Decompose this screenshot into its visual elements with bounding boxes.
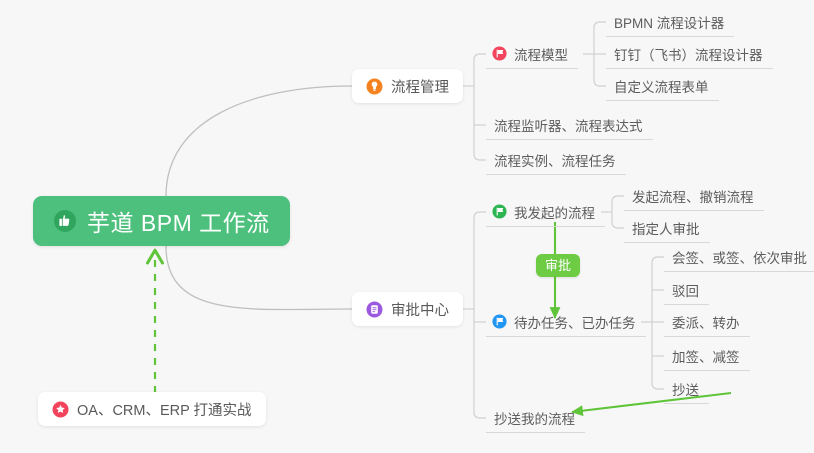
- node-dingtalk-designer[interactable]: 钉钉（飞书）流程设计器: [606, 39, 773, 69]
- node-label: 流程实例、流程任务: [494, 150, 616, 170]
- branch-process-management[interactable]: 流程管理: [352, 69, 463, 103]
- node-custom-form[interactable]: 自定义流程表单: [606, 71, 719, 101]
- root-node-label: 芋道 BPM 工作流: [87, 204, 270, 238]
- link-approval-center-children: [474, 212, 486, 418]
- node-label: 抄送: [672, 379, 699, 399]
- node-process-listener-expression[interactable]: 流程监听器、流程表达式: [486, 110, 653, 140]
- branch-label: 审批中心: [391, 299, 449, 320]
- link-root-to-process-management: [166, 86, 352, 196]
- node-cc-my-processes[interactable]: 抄送我的流程: [486, 403, 585, 433]
- node-label: 委派、转办: [672, 312, 740, 332]
- node-cc[interactable]: 抄送: [664, 374, 709, 404]
- node-label: 流程模型: [514, 44, 568, 64]
- node-my-initiated-processes[interactable]: 我发起的流程: [486, 197, 605, 227]
- floating-node-label: OA、CRM、ERP 打通实战: [77, 399, 252, 420]
- node-delegate-transfer[interactable]: 委派、转办: [664, 307, 750, 337]
- node-label: 驳回: [672, 280, 699, 300]
- branch-approval-center[interactable]: 审批中心: [352, 292, 463, 326]
- link-my-processes-children: [612, 196, 624, 228]
- node-label: BPMN 流程设计器: [614, 12, 724, 32]
- node-label: 会签、或签、依次审批: [672, 247, 807, 267]
- node-process-instance-task[interactable]: 流程实例、流程任务: [486, 145, 626, 175]
- flow-label-text: 审批: [545, 258, 571, 273]
- root-node[interactable]: 芋道 BPM 工作流: [33, 196, 290, 246]
- flag-icon: [492, 314, 507, 329]
- clipboard-icon: [366, 301, 383, 318]
- node-bpmn-designer[interactable]: BPMN 流程设计器: [606, 7, 734, 37]
- node-label: 自定义流程表单: [614, 76, 709, 96]
- node-label: 流程监听器、流程表达式: [494, 115, 643, 135]
- node-label: 发起流程、撤销流程: [632, 186, 754, 206]
- node-reject[interactable]: 驳回: [664, 275, 709, 305]
- node-label: 待办任务、已办任务: [514, 312, 636, 332]
- node-label: 我发起的流程: [514, 202, 595, 222]
- link-process-model-children: [594, 22, 606, 86]
- link-root-to-approval-center: [166, 246, 352, 310]
- branch-label: 流程管理: [391, 76, 449, 97]
- node-label: 加签、减签: [672, 346, 740, 366]
- star-icon: [52, 401, 69, 418]
- node-countersign[interactable]: 会签、或签、依次审批: [664, 242, 814, 272]
- thumbs-up-icon: [53, 209, 77, 233]
- node-label: 指定人审批: [632, 218, 700, 238]
- node-add-remove-sign[interactable]: 加签、减签: [664, 341, 750, 371]
- link-todo-tasks-children: [652, 257, 664, 389]
- flag-icon: [492, 204, 507, 219]
- link-process-management-children: [474, 54, 486, 160]
- node-label: 钉钉（飞书）流程设计器: [614, 44, 763, 64]
- flow-label-approval: 审批: [536, 254, 580, 277]
- mindmap-canvas: 芋道 BPM 工作流 流程管理 流程模型 BPMN 流程设计器 钉钉（飞书）流程…: [0, 0, 814, 453]
- node-start-cancel-process[interactable]: 发起流程、撤销流程: [624, 181, 764, 211]
- floating-node-integration[interactable]: OA、CRM、ERP 打通实战: [38, 392, 266, 426]
- lightbulb-icon: [366, 78, 383, 95]
- node-process-model[interactable]: 流程模型: [486, 39, 578, 69]
- node-label: 抄送我的流程: [494, 408, 575, 428]
- node-assignee-approval[interactable]: 指定人审批: [624, 213, 710, 243]
- node-todo-done-tasks[interactable]: 待办任务、已办任务: [486, 307, 646, 337]
- flag-icon: [492, 46, 507, 61]
